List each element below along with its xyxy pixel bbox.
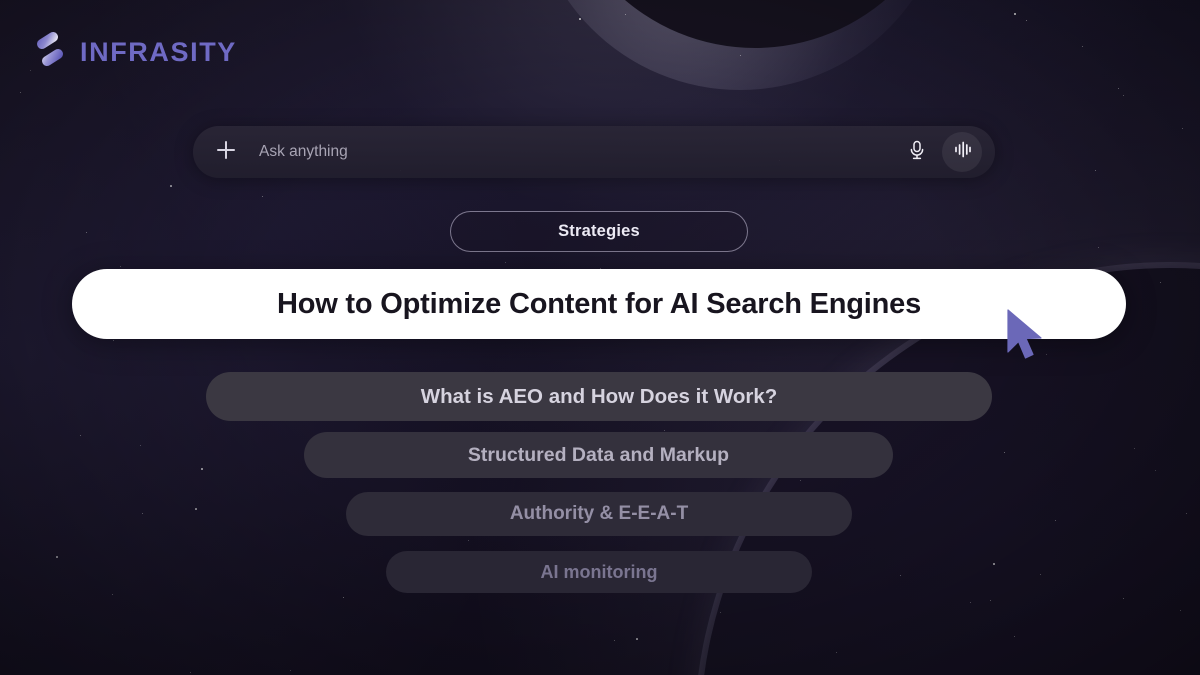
infrasity-logo-icon [32,30,68,74]
brand-name: INFRASITY [80,37,237,68]
suggestion-item-2[interactable]: Structured Data and Markup [304,432,893,478]
microphone-icon[interactable] [906,139,942,166]
suggestion-label: Authority & E-E-A-T [510,503,688,525]
suggestion-label: AI monitoring [541,562,658,583]
brand-logo[interactable]: INFRASITY [32,30,237,74]
category-pill-strategies[interactable]: Strategies [450,211,748,252]
search-input[interactable]: Ask anything [259,143,906,161]
audio-waveform-icon [952,139,973,165]
voice-mode-button[interactable] [942,132,982,172]
category-label: Strategies [558,222,640,241]
search-bar[interactable]: Ask anything [193,126,995,178]
suggestion-item-4[interactable]: AI monitoring [386,551,812,593]
suggestion-label: Structured Data and Markup [468,444,729,467]
suggestion-item-3[interactable]: Authority & E-E-A-T [346,492,852,536]
headline-banner[interactable]: How to Optimize Content for AI Search En… [72,269,1126,339]
suggestion-item-1[interactable]: What is AEO and How Does it Work? [206,372,992,421]
mouse-pointer-icon [1004,308,1050,366]
page-title: How to Optimize Content for AI Search En… [277,288,921,321]
plus-icon[interactable] [207,137,239,168]
suggestion-label: What is AEO and How Does it Work? [421,385,778,409]
